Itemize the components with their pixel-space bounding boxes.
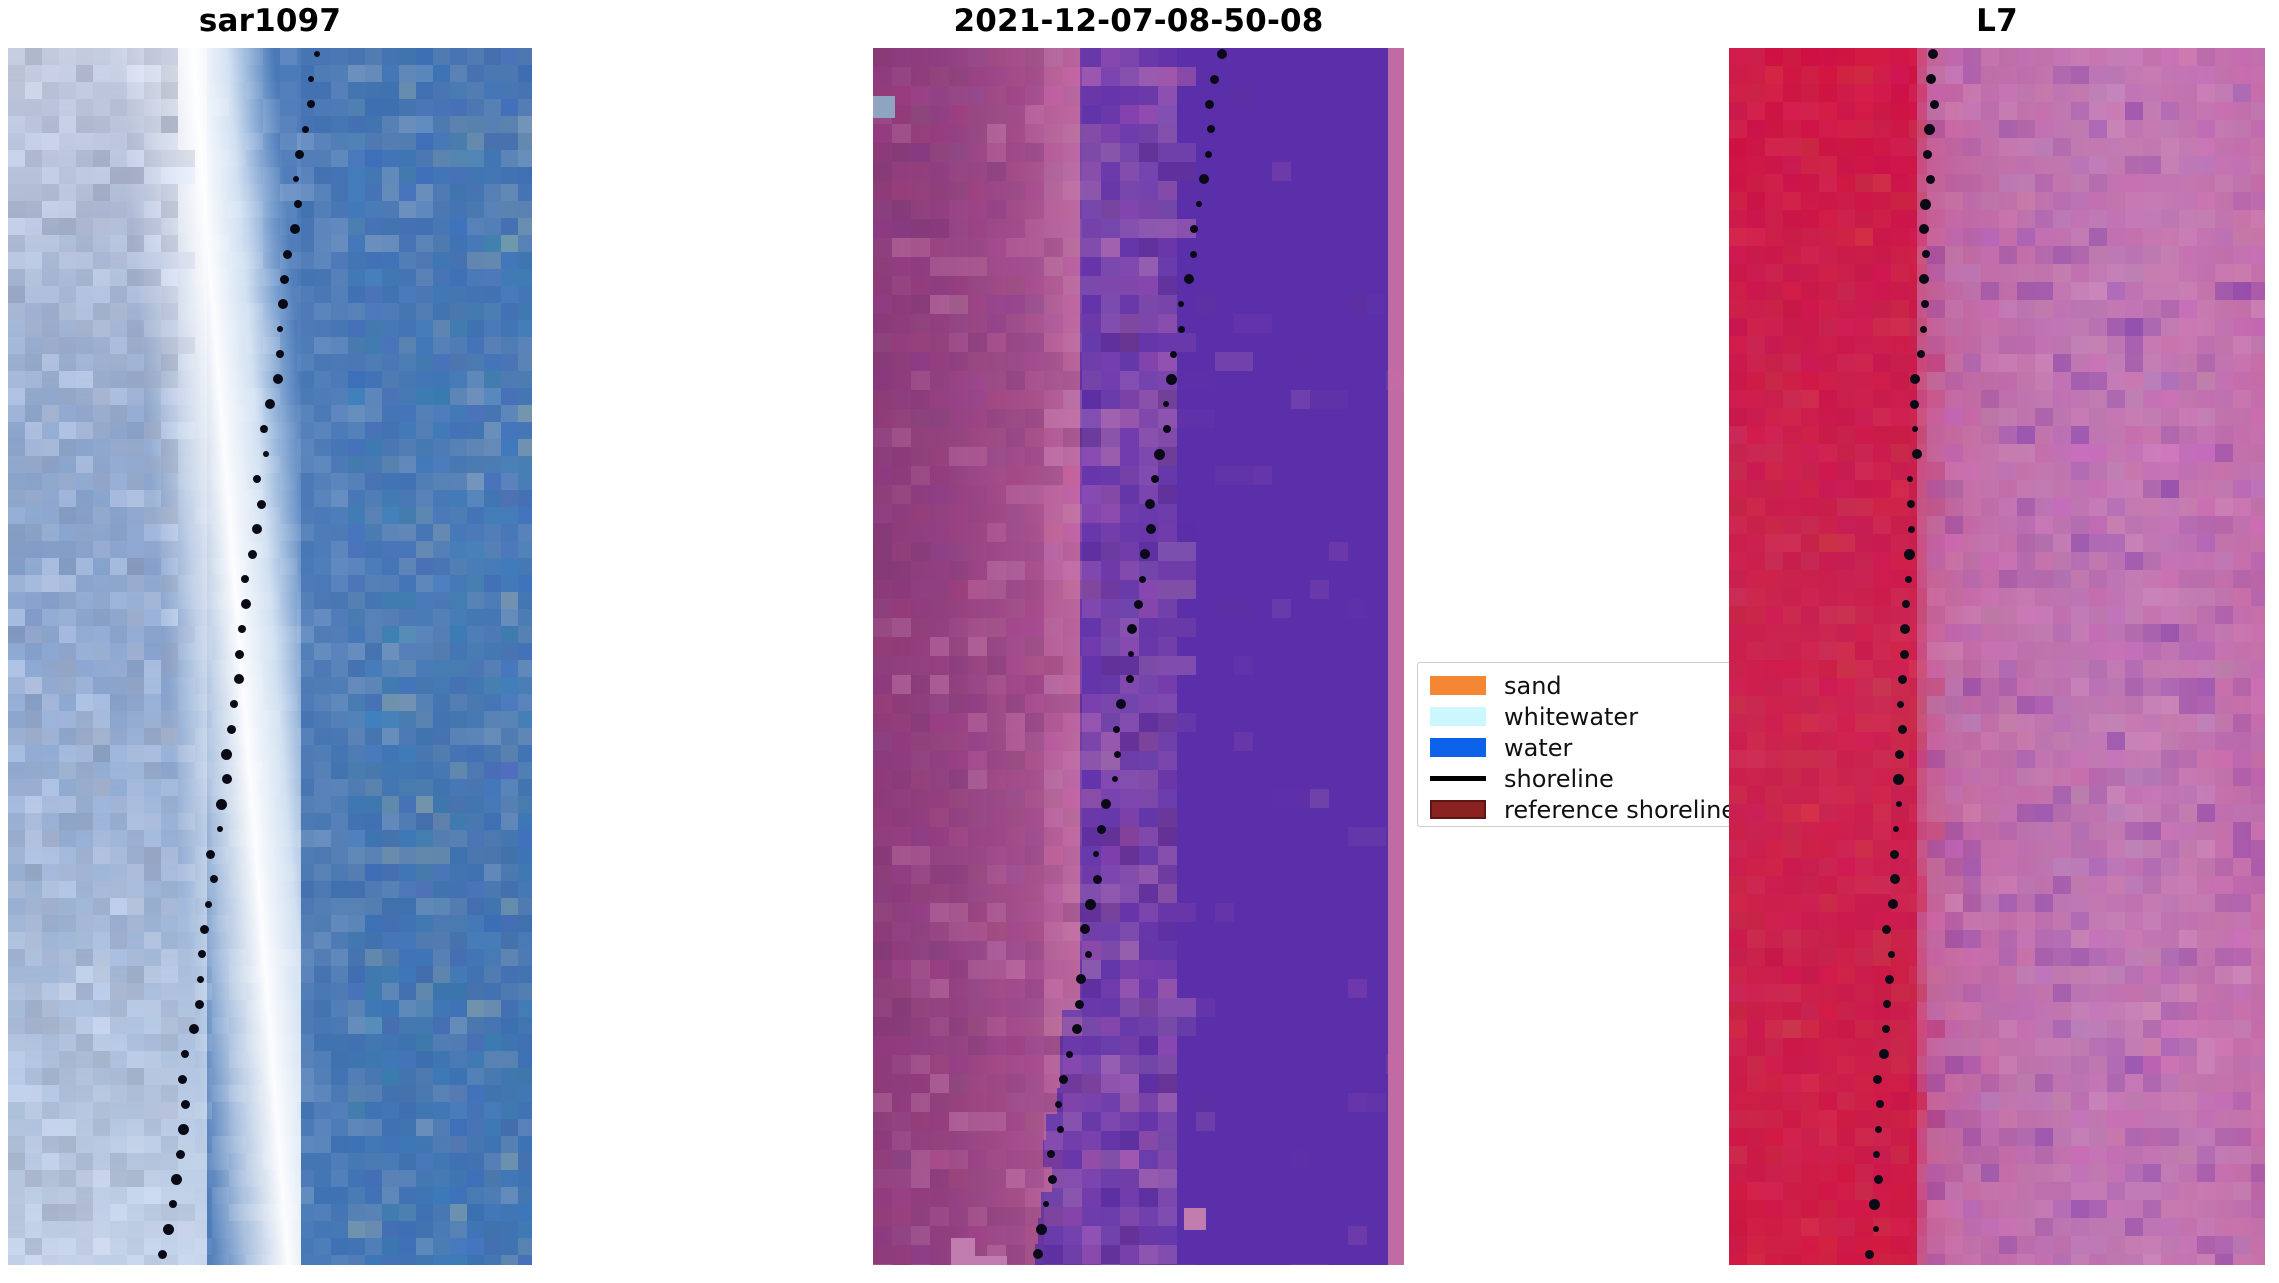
class-edge-strip — [1388, 48, 1404, 1265]
legend-label-sand: sand — [1504, 674, 1562, 698]
legend-item-shoreline: shoreline — [1418, 763, 1731, 794]
legend-label-water: water — [1504, 736, 1572, 760]
panel-sar-image[interactable] — [8, 48, 532, 1265]
figure-canvas: sar1097 2021-12-07-08-50-08 L7 — [0, 0, 2279, 1283]
legend-label-whitewater: whitewater — [1504, 705, 1638, 729]
panel-title-classification: 2021-12-07-08-50-08 — [873, 6, 1404, 37]
legend-swatch-whitewater — [1430, 707, 1486, 726]
legend-item-water: water — [1418, 732, 1731, 763]
l7-raster — [1729, 48, 2265, 1265]
sar-raster — [8, 48, 532, 1265]
legend-item-reference-shoreline-buffer: reference shoreline buffer — [1418, 794, 1731, 825]
legend-swatch-water — [1430, 738, 1486, 757]
classification-raster — [873, 48, 1404, 1265]
legend-item-sand: sand — [1418, 670, 1731, 701]
legend-box: sand whitewater water shoreline referenc… — [1417, 662, 1732, 827]
legend-label-reference-shoreline-buffer: reference shoreline buffer — [1504, 798, 1732, 822]
legend-swatch-sand — [1430, 676, 1486, 695]
legend-label-shoreline: shoreline — [1504, 767, 1614, 791]
legend-items: sand whitewater water shoreline referenc… — [1418, 663, 1731, 825]
panel-title-sar: sar1097 — [8, 6, 532, 37]
panel-l7-image[interactable] — [1729, 48, 2265, 1265]
legend-swatch-shoreline — [1430, 776, 1486, 781]
panel-title-l7: L7 — [1729, 6, 2265, 37]
legend-swatch-reference-shoreline-buffer — [1430, 800, 1486, 819]
legend-item-whitewater: whitewater — [1418, 701, 1731, 732]
panel-classification-image[interactable] — [873, 48, 1404, 1265]
